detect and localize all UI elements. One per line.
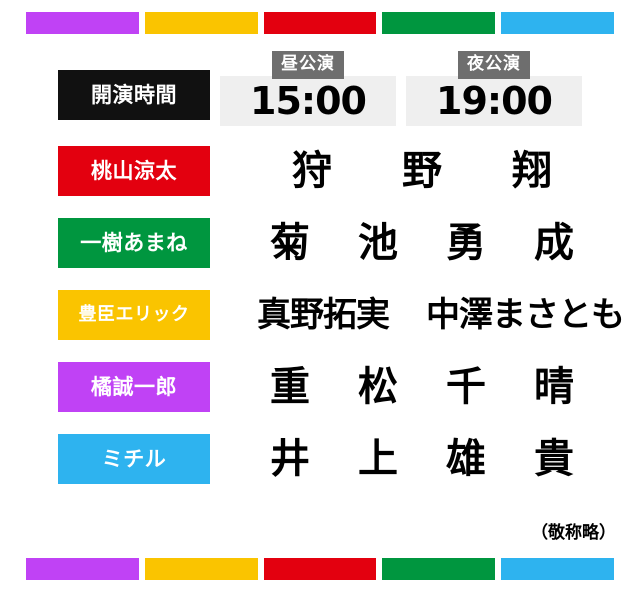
- cast-rows-container: 桃山涼太狩野翔一樹あまね菊池勇成豊臣エリック真野拓実中澤まさとも橘誠一郎重松千晴…: [0, 140, 640, 490]
- color-bar-segment: [382, 12, 495, 34]
- actor-name-char: 成: [534, 223, 574, 263]
- header-performance-columns: 昼公演 15:00 夜公演 19:00: [210, 52, 640, 126]
- honorifics-omitted-note: （敬称略）: [531, 518, 616, 543]
- color-bar-segment: [26, 558, 139, 580]
- actor-name-char: 翔: [512, 151, 552, 191]
- header-row-label: 開演時間: [58, 70, 210, 120]
- cast-value-area: 重松千晴: [210, 356, 640, 418]
- color-bar-segment: [26, 12, 139, 34]
- cast-value-area: 菊池勇成: [210, 212, 640, 274]
- character-label-chip: 一樹あまね: [58, 218, 210, 268]
- actor-name-char: 井: [270, 439, 310, 479]
- character-label-text: 一樹あまね: [80, 233, 188, 254]
- actor-name-both-performances: 井上雄貴: [210, 439, 640, 479]
- actor-name-char: 晴: [534, 367, 574, 407]
- character-label-chip: 橘誠一郎: [58, 362, 210, 412]
- decorative-color-bar-top: [0, 12, 640, 34]
- actor-name-both-performances: 菊池勇成: [210, 223, 640, 263]
- actor-name-night: 中澤まさとも: [424, 298, 626, 332]
- character-label-chip: 豊臣エリック: [58, 290, 210, 340]
- cast-value-area: 井上雄貴: [210, 428, 640, 490]
- cast-row: 一樹あまね菊池勇成: [0, 212, 640, 274]
- actor-name-char: 上: [358, 439, 398, 479]
- performance-column-night: 夜公演 19:00: [406, 51, 582, 126]
- actor-name-char: 野: [402, 151, 442, 191]
- performance-time-day: 15:00: [250, 82, 366, 120]
- character-label-text: 桃山涼太: [91, 161, 177, 182]
- table-header-row: 開演時間 昼公演 15:00 夜公演 19:00: [0, 52, 640, 126]
- character-label-chip: 桃山涼太: [58, 146, 210, 196]
- cast-names-split: 真野拓実中澤まさとも: [210, 298, 640, 332]
- actor-name-both-performances: 重松千晴: [210, 367, 640, 407]
- character-label-chip: ミチル: [58, 434, 210, 484]
- color-bar-segment: [145, 12, 258, 34]
- actor-name-both-performances: 狩野翔: [210, 151, 640, 191]
- performance-time-box-day: 15:00: [220, 76, 396, 126]
- cast-row: ミチル井上雄貴: [0, 428, 640, 490]
- actor-name-char: 貴: [534, 439, 574, 479]
- cast-row: 橘誠一郎重松千晴: [0, 356, 640, 418]
- cast-schedule-table: 開演時間 昼公演 15:00 夜公演 19:00 桃山涼太狩野翔一樹あまね菊池勇…: [0, 52, 640, 500]
- performance-badge-night: 夜公演: [458, 51, 530, 79]
- performance-badge-day: 昼公演: [272, 51, 344, 79]
- header-row-label-text: 開演時間: [91, 85, 177, 106]
- actor-name-char: 雄: [446, 439, 486, 479]
- performance-time-night: 19:00: [436, 82, 552, 120]
- color-bar-segment: [264, 558, 377, 580]
- character-label-text: ミチル: [102, 449, 167, 470]
- cast-value-area: 狩野翔: [210, 140, 640, 202]
- color-bar-segment: [501, 558, 614, 580]
- color-bar-segment: [382, 558, 495, 580]
- actor-name-char: 勇: [446, 223, 486, 263]
- actor-name-char: 千: [446, 367, 486, 407]
- actor-name-char: 池: [358, 223, 398, 263]
- color-bar-segment: [264, 12, 377, 34]
- actor-name-char: 狩: [292, 151, 332, 191]
- actor-name-char: 重: [270, 367, 310, 407]
- cast-row: 桃山涼太狩野翔: [0, 140, 640, 202]
- performance-time-box-night: 19:00: [406, 76, 582, 126]
- actor-name-char: 菊: [270, 223, 310, 263]
- character-label-text: 豊臣エリック: [79, 306, 190, 324]
- actor-name-char: 松: [358, 367, 398, 407]
- decorative-color-bar-bottom: [0, 558, 640, 580]
- cast-row: 豊臣エリック真野拓実中澤まさとも: [0, 284, 640, 346]
- color-bar-segment: [501, 12, 614, 34]
- color-bar-segment: [145, 558, 258, 580]
- actor-name-day: 真野拓実: [222, 298, 424, 332]
- performance-column-day: 昼公演 15:00: [220, 51, 396, 126]
- character-label-text: 橘誠一郎: [91, 377, 177, 398]
- cast-value-area: 真野拓実中澤まさとも: [210, 284, 640, 346]
